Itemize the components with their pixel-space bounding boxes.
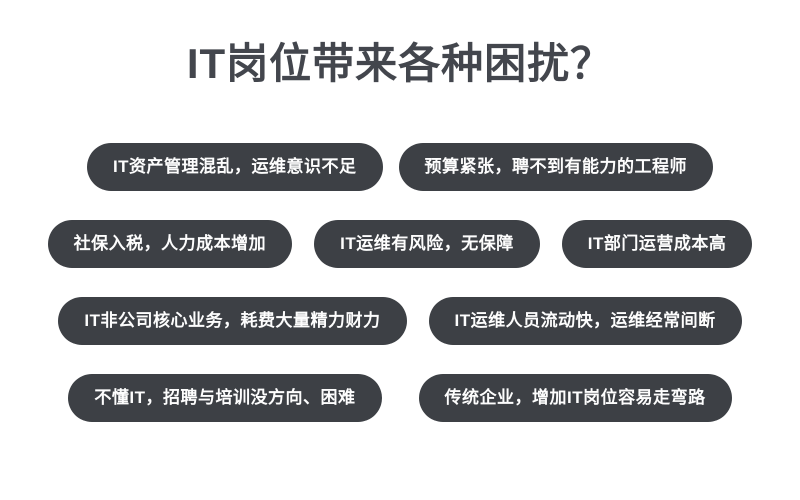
pain-point-pill[interactable]: IT非公司核心业务，耗费大量精力财力: [58, 297, 406, 345]
poster-canvas: IT岗位带来各种困扰？ IT资产管理混乱，运维意识不足 预算紧张，聘不到有能力的…: [0, 0, 800, 500]
pain-point-pill[interactable]: 传统企业，增加IT岗位容易走弯路: [419, 374, 732, 422]
pain-point-pill[interactable]: IT运维人员流动快，运维经常间断: [429, 297, 742, 345]
pain-point-row-1: IT资产管理混乱，运维意识不足 预算紧张，聘不到有能力的工程师: [0, 143, 800, 191]
pain-point-pill[interactable]: IT资产管理混乱，运维意识不足: [87, 143, 383, 191]
pain-point-row-4: 不懂IT，招聘与培训没方向、困难 传统企业，增加IT岗位容易走弯路: [0, 374, 800, 422]
page-title: IT岗位带来各种困扰？: [0, 36, 800, 92]
pain-point-pill[interactable]: 不懂IT，招聘与培训没方向、困难: [68, 374, 381, 422]
pain-point-pill[interactable]: IT部门运营成本高: [562, 220, 753, 268]
pain-point-row-2: 社保入税，人力成本增加 IT运维有风险，无保障 IT部门运营成本高: [0, 220, 800, 268]
pain-point-pill[interactable]: 预算紧张，聘不到有能力的工程师: [399, 143, 714, 191]
pain-point-pill[interactable]: 社保入税，人力成本增加: [48, 220, 293, 268]
pain-point-list: IT资产管理混乱，运维意识不足 预算紧张，聘不到有能力的工程师 社保入税，人力成…: [0, 143, 800, 422]
pain-point-row-3: IT非公司核心业务，耗费大量精力财力 IT运维人员流动快，运维经常间断: [0, 297, 800, 345]
pain-point-pill[interactable]: IT运维有风险，无保障: [314, 220, 540, 268]
